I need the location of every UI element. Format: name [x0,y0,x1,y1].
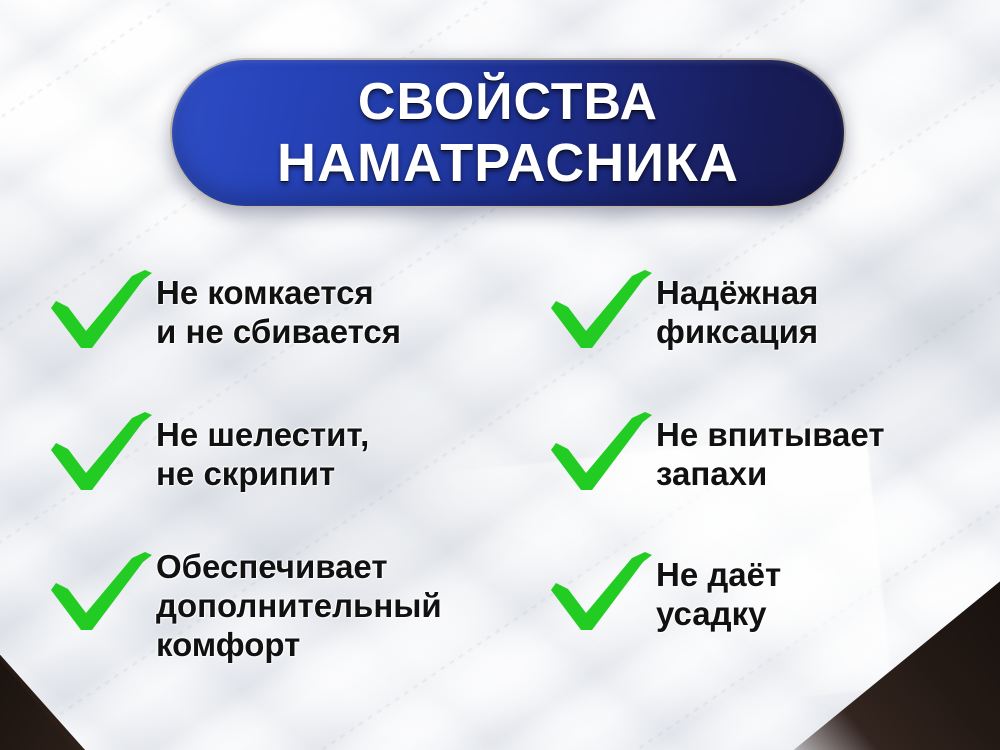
feature-item-ne-komkaetsya: Не комкается и не сбивается [48,264,518,352]
feature-item-nadezhnaya-fiksaciya: Надёжная фиксация [548,264,988,352]
check-icon [48,268,156,352]
feature-item-ne-shelestit: Не шелестит, не скрипит [48,406,518,494]
feature-text-line: Не впитывает [656,416,885,455]
feature-text-line: комфорт [156,626,442,665]
feature-text: Надёжная фиксация [656,264,818,352]
feature-item-ne-daet-usadku: Не даёт усадку [548,546,988,634]
feature-text-line: усадку [656,595,781,634]
title-badge: СВОЙСТВА НАМАТРАСНИКА [170,58,846,208]
feature-text-line: Не шелестит, [156,416,369,455]
feature-text: Не комкается и не сбивается [156,264,401,352]
feature-text-line: Не даёт [656,556,781,595]
feature-text-line: не скрипит [156,455,369,494]
feature-text: Обеспечивает дополнительный комфорт [156,546,442,665]
feature-text-line: Обеспечивает [156,548,442,587]
feature-text-line: Не комкается [156,274,401,313]
feature-text-line: и не сбивается [156,313,401,352]
feature-text-line: Надёжная [656,274,818,313]
badge-title-line-2: НАМАТРАСНИКА [277,136,739,190]
check-icon [48,550,156,634]
feature-text-line: запахи [656,455,885,494]
check-icon [548,550,656,634]
feature-text: Не шелестит, не скрипит [156,406,369,494]
feature-item-ne-vpityvaet-zapahi: Не впитывает запахи [548,406,988,494]
promo-poster: СВОЙСТВА НАМАТРАСНИКА Не комкается и не … [0,0,1000,750]
feature-text-line: фиксация [656,313,818,352]
feature-list: Не комкается и не сбивается Надёжная фик… [0,258,1000,688]
feature-text: Не впитывает запахи [656,406,885,494]
check-icon [548,268,656,352]
badge-title-line-1: СВОЙСТВА [358,76,658,128]
feature-item-dopolnitelnyj-komfort: Обеспечивает дополнительный комфорт [48,546,518,665]
check-icon [548,410,656,494]
feature-text: Не даёт усадку [656,546,781,634]
check-icon [48,410,156,494]
feature-text-line: дополнительный [156,587,442,626]
